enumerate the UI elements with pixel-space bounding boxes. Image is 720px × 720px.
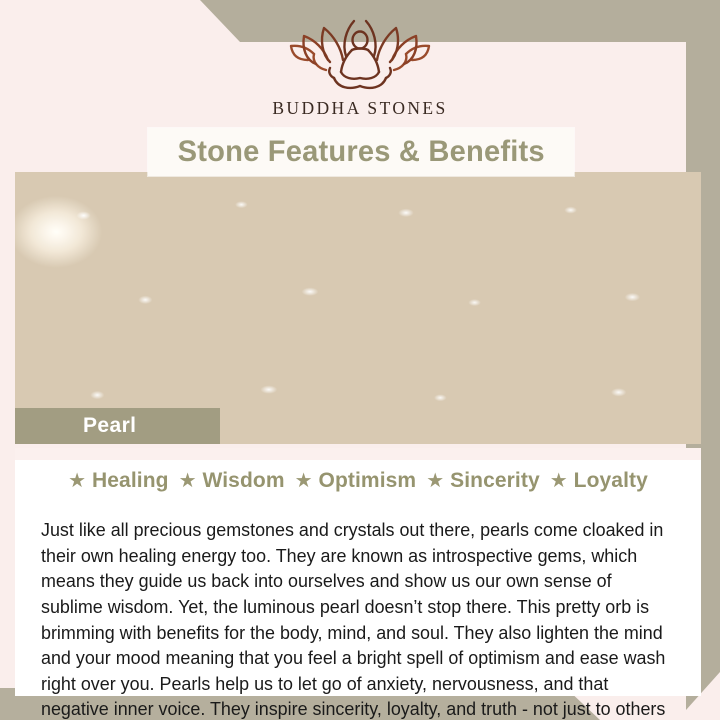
benefit-label: Loyalty <box>574 469 648 493</box>
benefit-label: Optimism <box>319 469 417 493</box>
photo-highlights-layer <box>15 172 701 444</box>
page-title: Stone Features & Benefits <box>177 135 544 169</box>
pearl-gemstones-photo <box>15 172 701 444</box>
benefits-list: ★ Healing ★ Wisdom ★ Optimism ★ Sincerit… <box>15 469 701 493</box>
benefit-label: Healing <box>92 469 169 493</box>
benefit-label: Sincerity <box>450 469 540 493</box>
star-icon: ★ <box>295 471 313 491</box>
lotus-meditation-icon <box>286 16 434 94</box>
stone-description: Just like all precious gemstones and cry… <box>41 518 671 720</box>
content-panel: ★ Healing ★ Wisdom ★ Optimism ★ Sincerit… <box>15 448 701 696</box>
benefit-item-optimism: ★ Optimism <box>295 469 417 493</box>
star-icon: ★ <box>550 471 568 491</box>
infographic-card: BUDDHA STONES Stone Features & Benefits … <box>0 0 720 720</box>
benefit-item-loyalty: ★ Loyalty <box>550 469 648 493</box>
benefit-item-healing: ★ Healing <box>68 469 169 493</box>
benefit-item-sincerity: ★ Sincerity <box>426 469 540 493</box>
star-icon: ★ <box>179 471 197 491</box>
stone-name-tag: Pearl <box>15 408 220 444</box>
brand-name: BUDDHA STONES <box>0 98 720 119</box>
brand-logo: BUDDHA STONES <box>0 16 720 119</box>
panel-top-tint <box>15 448 701 460</box>
benefit-item-wisdom: ★ Wisdom <box>179 469 285 493</box>
benefit-label: Wisdom <box>203 469 285 493</box>
stone-name-label: Pearl <box>83 414 136 438</box>
star-icon: ★ <box>426 471 444 491</box>
star-icon: ★ <box>68 471 86 491</box>
title-banner: Stone Features & Benefits <box>148 128 574 176</box>
